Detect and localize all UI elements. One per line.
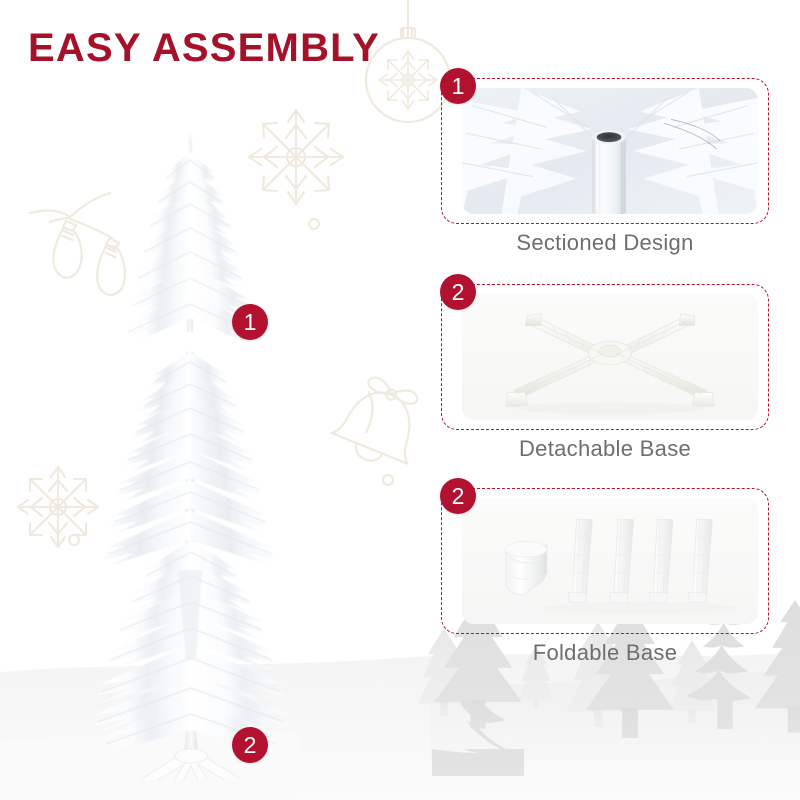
panel-dashed-frame: 1	[441, 78, 769, 224]
photo-pole-connector	[462, 88, 758, 214]
badge-panel-1[interactable]: 1	[440, 68, 476, 104]
tree-section-bottom	[90, 540, 292, 752]
badge-tree-1[interactable]: 1	[232, 304, 268, 340]
panel-caption-3: Foldable Base	[441, 640, 769, 666]
feature-panel-sectioned-design: 1	[441, 78, 769, 256]
tree-illustration	[60, 100, 390, 780]
feature-panel-foldable-base: 2	[441, 488, 769, 666]
panel-photo-detachable-base	[462, 294, 758, 420]
photo-base-parts	[462, 498, 758, 624]
product-tree-image	[60, 100, 390, 780]
panel-photo-foldable-base	[462, 498, 758, 624]
panel-dashed-frame: 2	[441, 488, 769, 634]
infographic-canvas: EASY ASSEMBLY	[0, 0, 800, 800]
photo-x-base	[462, 294, 758, 420]
panel-caption-2: Detachable Base	[441, 436, 769, 462]
feature-panel-detachable-base: 2	[441, 284, 769, 462]
badge-tree-2[interactable]: 2	[232, 727, 268, 763]
page-title: EASY ASSEMBLY	[28, 26, 380, 71]
badge-panel-2[interactable]: 2	[440, 274, 476, 310]
panel-photo-sectioned-design	[462, 88, 758, 214]
tree-section-middle	[100, 352, 280, 572]
badge-panel-3[interactable]: 2	[440, 478, 476, 514]
panel-caption-1: Sectioned Design	[441, 230, 769, 256]
panel-dashed-frame: 2	[441, 284, 769, 430]
